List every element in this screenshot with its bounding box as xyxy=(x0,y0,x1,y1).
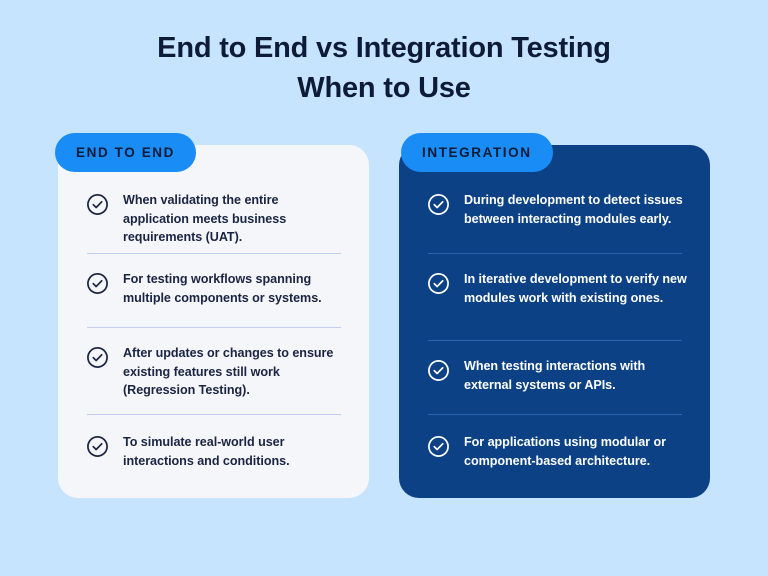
list-item-text: For applications using modular or compon… xyxy=(464,433,688,470)
check-circle-icon xyxy=(427,193,450,216)
list-item: When testing interactions with external … xyxy=(427,341,688,414)
check-circle-icon xyxy=(86,193,109,216)
list-item: During development to detect issues betw… xyxy=(427,191,688,253)
badge-integration: INTEGRATION xyxy=(401,133,553,172)
list-item-text: To simulate real-world user interactions… xyxy=(123,433,347,470)
list-item: For testing workflows spanning multiple … xyxy=(86,254,347,327)
list-item: In iterative development to verify new m… xyxy=(427,254,688,340)
check-circle-icon xyxy=(86,346,109,369)
page-title: End to End vs Integration Testing When t… xyxy=(0,28,768,108)
list-item-text: When testing interactions with external … xyxy=(464,357,688,394)
list-item-text: During development to detect issues betw… xyxy=(464,191,688,228)
check-circle-icon xyxy=(86,435,109,458)
badge-end-to-end-label: END TO END xyxy=(76,145,175,160)
page-title-line-2: When to Use xyxy=(0,68,768,108)
integration-item-list: During development to detect issues betw… xyxy=(399,191,710,498)
list-item-text: For testing workflows spanning multiple … xyxy=(123,270,347,307)
check-circle-icon xyxy=(427,359,450,382)
card-end-to-end: END TO END When validating the entire ap… xyxy=(58,145,369,498)
list-item: When validating the entire application m… xyxy=(86,191,347,253)
badge-end-to-end: END TO END xyxy=(55,133,196,172)
list-item: For applications using modular or compon… xyxy=(427,415,688,477)
end-to-end-item-list: When validating the entire application m… xyxy=(58,191,369,498)
check-circle-icon xyxy=(427,272,450,295)
list-item-text: In iterative development to verify new m… xyxy=(464,270,688,307)
list-item: After updates or changes to ensure exist… xyxy=(86,328,347,414)
badge-integration-label: INTEGRATION xyxy=(422,145,532,160)
list-item: To simulate real-world user interactions… xyxy=(86,415,347,477)
comparison-cards: END TO END When validating the entire ap… xyxy=(0,145,768,505)
list-item-text: When validating the entire application m… xyxy=(123,191,347,247)
card-integration: INTEGRATION During development to detect… xyxy=(399,145,710,498)
page-title-line-1: End to End vs Integration Testing xyxy=(0,28,768,68)
list-item-text: After updates or changes to ensure exist… xyxy=(123,344,347,400)
check-circle-icon xyxy=(86,272,109,295)
check-circle-icon xyxy=(427,435,450,458)
